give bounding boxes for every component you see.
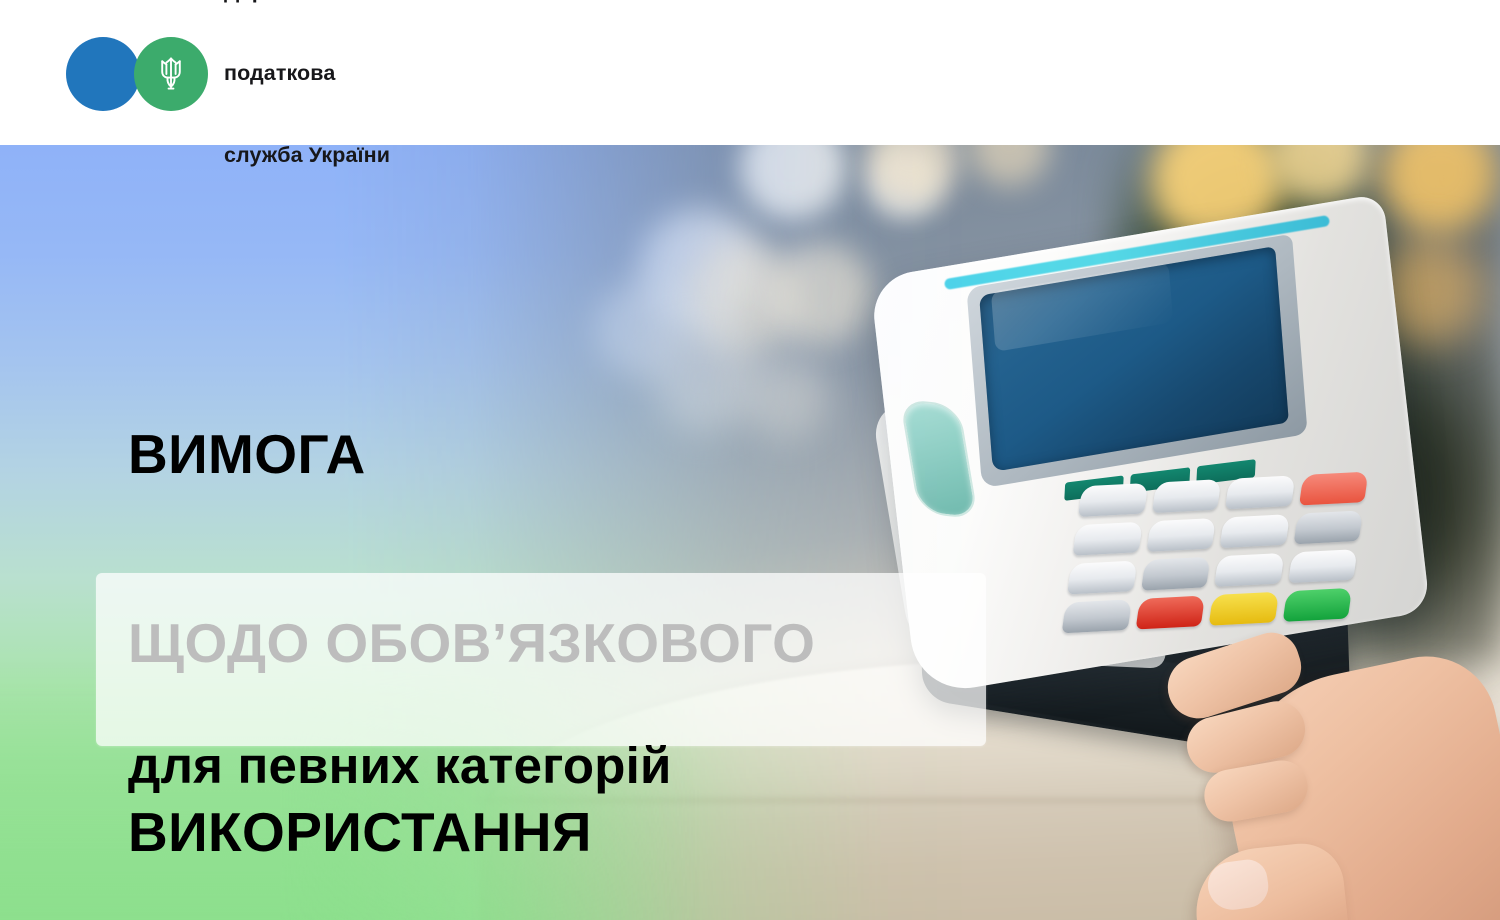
organization-logo[interactable]: Державна податкова служба України	[66, 0, 390, 224]
header-bar: Державна податкова служба України	[0, 0, 1500, 145]
subtitle-line-1: для певних категорій	[128, 733, 988, 799]
poster-subtitle: для певних категорій торговців відтермін…	[128, 600, 988, 920]
logo-marks	[66, 37, 208, 111]
poster-text-layer: ВИМОГА ЩОДО ОБОВ’ЯЗКОВОГО ВИКОРИСТАННЯ П…	[0, 145, 1500, 920]
org-name-line-1: Державна	[224, 0, 390, 5]
ukraine-trident-icon	[134, 37, 208, 111]
logo-circle-blue-icon	[66, 37, 140, 111]
poster-canvas: ВИМОГА ЩОДО ОБОВ’ЯЗКОВОГО ВИКОРИСТАННЯ П…	[0, 0, 1500, 920]
organization-name: Державна податкова служба України	[224, 0, 390, 224]
org-name-line-2: податкова	[224, 60, 390, 87]
headline-line-1: ВИМОГА	[128, 423, 822, 486]
org-name-line-3: служба України	[224, 142, 390, 169]
